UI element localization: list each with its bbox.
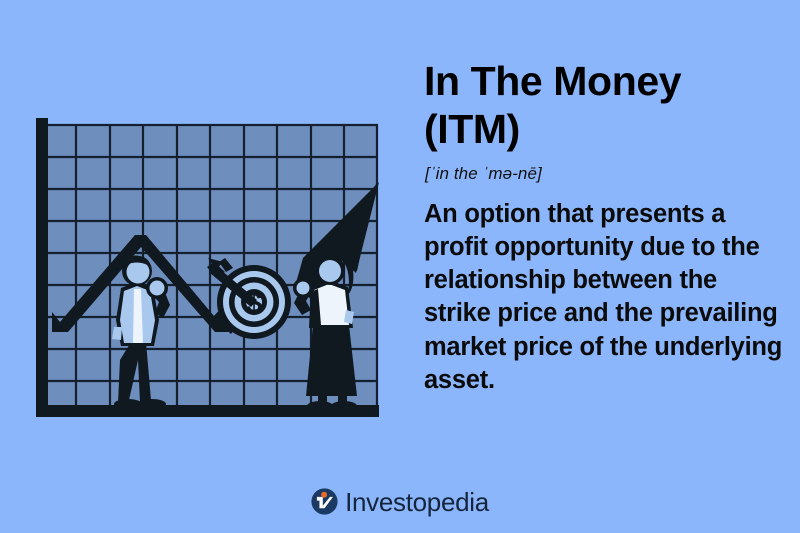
investopedia-logo-icon (311, 488, 338, 515)
page-title: In The Money (ITM) (424, 58, 784, 154)
poster-canvas: $ (0, 0, 800, 533)
definition-text: An option that presents a profit opportu… (424, 198, 784, 397)
brand-footer: Investopedia (0, 488, 800, 515)
pronunciation-text: [ˈin the ˈmə-nē] (425, 164, 784, 184)
brand-wordmark: Investopedia (345, 489, 489, 515)
illustration-svg: $ (0, 0, 400, 533)
definition-panel: In The Money (ITM) [ˈin the ˈmə-nē] An o… (424, 58, 784, 397)
in-the-money-chart-illustration: $ (0, 0, 400, 533)
